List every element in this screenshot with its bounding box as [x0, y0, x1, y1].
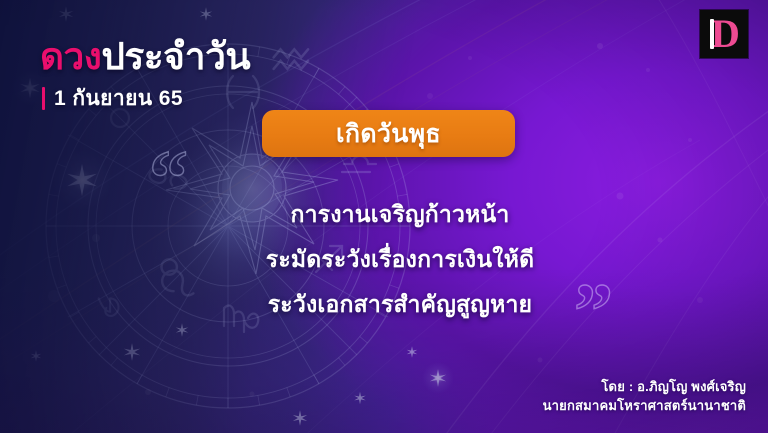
horoscope-poster: D ดวงประจำวัน 1 กันยายน 65 เกิดวันพุธ “ … — [0, 0, 768, 433]
quote-open-icon: “ — [149, 139, 188, 217]
brand-logo-letter: D — [708, 14, 740, 54]
date-text: 1 กันยายน 65 — [54, 82, 183, 115]
date-line: 1 กันยายน 65 — [42, 82, 183, 115]
page-title-highlight: ดวง — [40, 36, 101, 77]
page-title-rest: ประจำวัน — [101, 36, 250, 77]
page-title: ดวงประจำวัน — [40, 38, 250, 75]
credit-block: โดย : อ.ภิญโญ พงศ์เจริญ นายกสมาคมโหราศาส… — [543, 377, 746, 415]
forecast-list: การงานเจริญก้าวหน้า ระมัดระวังเรื่องการเ… — [190, 192, 610, 327]
list-item: ระวังเอกสารสำคัญสูญหาย — [190, 282, 610, 327]
brand-logo: D — [700, 10, 748, 58]
status-badge-label: เกิดวันพุธ — [336, 114, 441, 154]
list-item: ระมัดระวังเรื่องการเงินให้ดี — [190, 237, 610, 282]
credit-author: โดย : อ.ภิญโญ พงศ์เจริญ — [543, 377, 746, 396]
status-badge: เกิดวันพุธ — [262, 110, 515, 157]
list-item: การงานเจริญก้าวหน้า — [190, 192, 610, 237]
credit-role: นายกสมาคมโหราศาสตร์นานาชาติ — [543, 396, 746, 415]
date-accent-bar — [42, 87, 45, 110]
